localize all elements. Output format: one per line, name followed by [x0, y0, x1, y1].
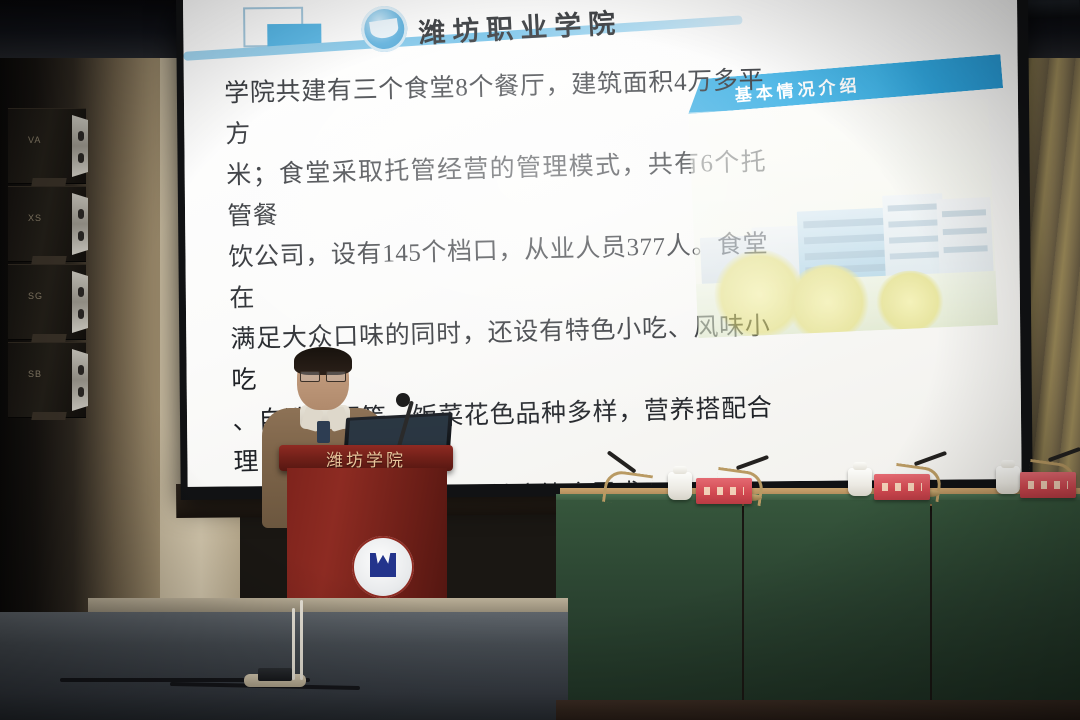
name-card: [1020, 472, 1076, 498]
table-skirt: [932, 500, 1080, 720]
speaker-label: XS: [28, 213, 42, 223]
name-card: [696, 478, 752, 504]
line-array-speakers: VA XS SG SB: [8, 108, 86, 438]
table-skirt: [556, 500, 742, 720]
speaker-port-icon: [78, 209, 84, 219]
power-cable: [292, 608, 295, 680]
floor-strip-right: [556, 700, 1080, 720]
speaker-label: SB: [28, 369, 42, 379]
speaker-port-icon: [78, 387, 84, 397]
table-microphone: [602, 469, 653, 508]
speaker-port-icon: [78, 153, 84, 163]
speaker-port-icon: [78, 287, 84, 297]
speaker-label: SG: [28, 291, 43, 301]
university-emblem-icon: [352, 536, 414, 598]
speaker-port-icon: [78, 365, 84, 375]
speaker-port-icon: [78, 309, 84, 319]
speaker-port-icon: [78, 131, 84, 141]
teacup: [668, 472, 692, 500]
stage-floor: [0, 612, 568, 720]
power-cable: [300, 600, 303, 680]
screenshot-root: VA XS SG SB: [0, 0, 1080, 720]
slide-line: 饮公司，设有145个档口，从业人员377人。食堂在: [228, 224, 770, 320]
speaker-cabinet: VA: [8, 108, 86, 184]
teacup: [848, 468, 872, 496]
microphone-icon: [396, 393, 410, 407]
speaker-bracket: [72, 349, 88, 411]
college-name: 潍坊职业学院: [417, 1, 623, 50]
speaker-bracket: [72, 193, 88, 255]
table-skirt: [744, 500, 930, 720]
campus-photo: [688, 99, 998, 338]
presenter-tie: [317, 421, 330, 443]
speaker-cabinet: XS: [8, 186, 86, 262]
speaker-bracket: [72, 115, 88, 177]
speaker-rigging: [31, 178, 66, 186]
power-strip: [258, 668, 292, 681]
speaker-bracket: [72, 271, 88, 333]
slide-line: 学院共建有三个食堂8个餐厅，建筑面积4万多平方: [224, 60, 766, 156]
speaker-rigging: [31, 256, 66, 264]
speaker-cabinet: SB: [8, 342, 86, 418]
glasses-icon: [300, 371, 346, 380]
speaker-port-icon: [78, 231, 84, 241]
speaker-label: VA: [28, 135, 41, 145]
speaker-cabinet: SG: [8, 264, 86, 340]
photo-building: [936, 197, 994, 279]
name-card: [874, 474, 930, 500]
teacup: [996, 466, 1020, 494]
speaker-rigging: [31, 334, 66, 342]
college-logo-icon: [361, 6, 407, 52]
speaker-rigging: [31, 412, 66, 420]
slide-line: 米；食堂采取托管经营的管理模式，共有6个托管餐: [226, 142, 768, 238]
